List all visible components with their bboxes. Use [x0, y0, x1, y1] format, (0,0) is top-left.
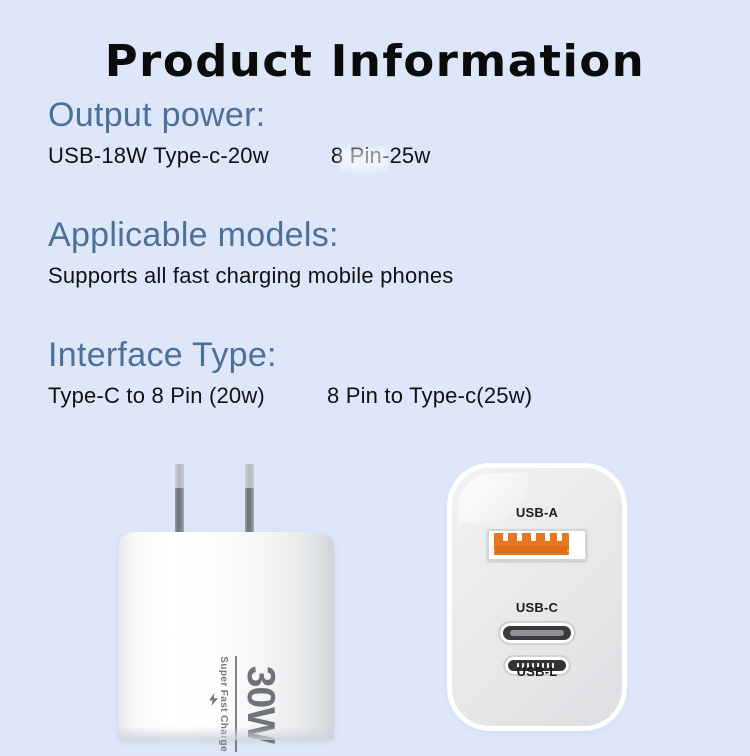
super-fast-charge-label: Super Fast Charge	[218, 656, 229, 752]
usb-c-port-icon	[500, 623, 574, 643]
output-power-value-1: USB-18W Type-c-20w	[48, 143, 269, 168]
plug-prong-right	[245, 464, 254, 540]
usb-a-contact-notch	[545, 533, 550, 541]
usb-a-port-icon	[487, 529, 587, 561]
lightning-bolt-icon	[209, 694, 218, 712]
background-smudge-artifact	[340, 148, 388, 170]
wattage-label: 30W	[241, 665, 280, 742]
usb-a-contact-notch	[531, 533, 536, 541]
product-image-wall-charger: 30W Super Fast Charge	[118, 458, 334, 744]
usb-a-contact-notch	[557, 533, 562, 541]
heading-applicable-models: Applicable models:	[48, 218, 708, 254]
usb-a-contact-notch	[503, 533, 508, 541]
label-divider	[235, 656, 237, 752]
body-applicable-models: Supports all fast charging mobile phones	[48, 263, 708, 289]
heading-output-power: Output power:	[48, 98, 708, 134]
product-image-multiport-charger: USB-A USB-C USB-L	[452, 468, 622, 726]
spec-section-interface-type: Interface Type: Type-C to 8 Pin (20w)8 P…	[48, 338, 708, 409]
interface-type-value-2: 8 Pin to Type-c(25w)	[327, 383, 532, 408]
charger-body: 30W Super Fast Charge	[118, 532, 334, 740]
usb-a-contact-notch	[517, 533, 522, 541]
plug-prong-left	[175, 464, 184, 540]
port-label-usb-l: USB-L	[452, 664, 622, 679]
page-title: Product Information	[0, 36, 750, 87]
interface-type-value-1: Type-C to 8 Pin (20w)	[48, 383, 265, 408]
spec-section-applicable-models: Applicable models: Supports all fast cha…	[48, 218, 708, 289]
port-label-usb-a: USB-A	[452, 505, 622, 520]
heading-interface-type: Interface Type:	[48, 338, 708, 374]
usb-a-pin-bar	[495, 546, 567, 553]
usb-c-pin-strip	[510, 630, 564, 636]
port-label-usb-c: USB-C	[452, 600, 622, 615]
charger-face-label: 30W Super Fast Charge	[176, 652, 280, 756]
body-interface-type: Type-C to 8 Pin (20w)8 Pin to Type-c(25w…	[48, 383, 708, 409]
super-fast-charge-group: Super Fast Charge	[209, 656, 229, 752]
